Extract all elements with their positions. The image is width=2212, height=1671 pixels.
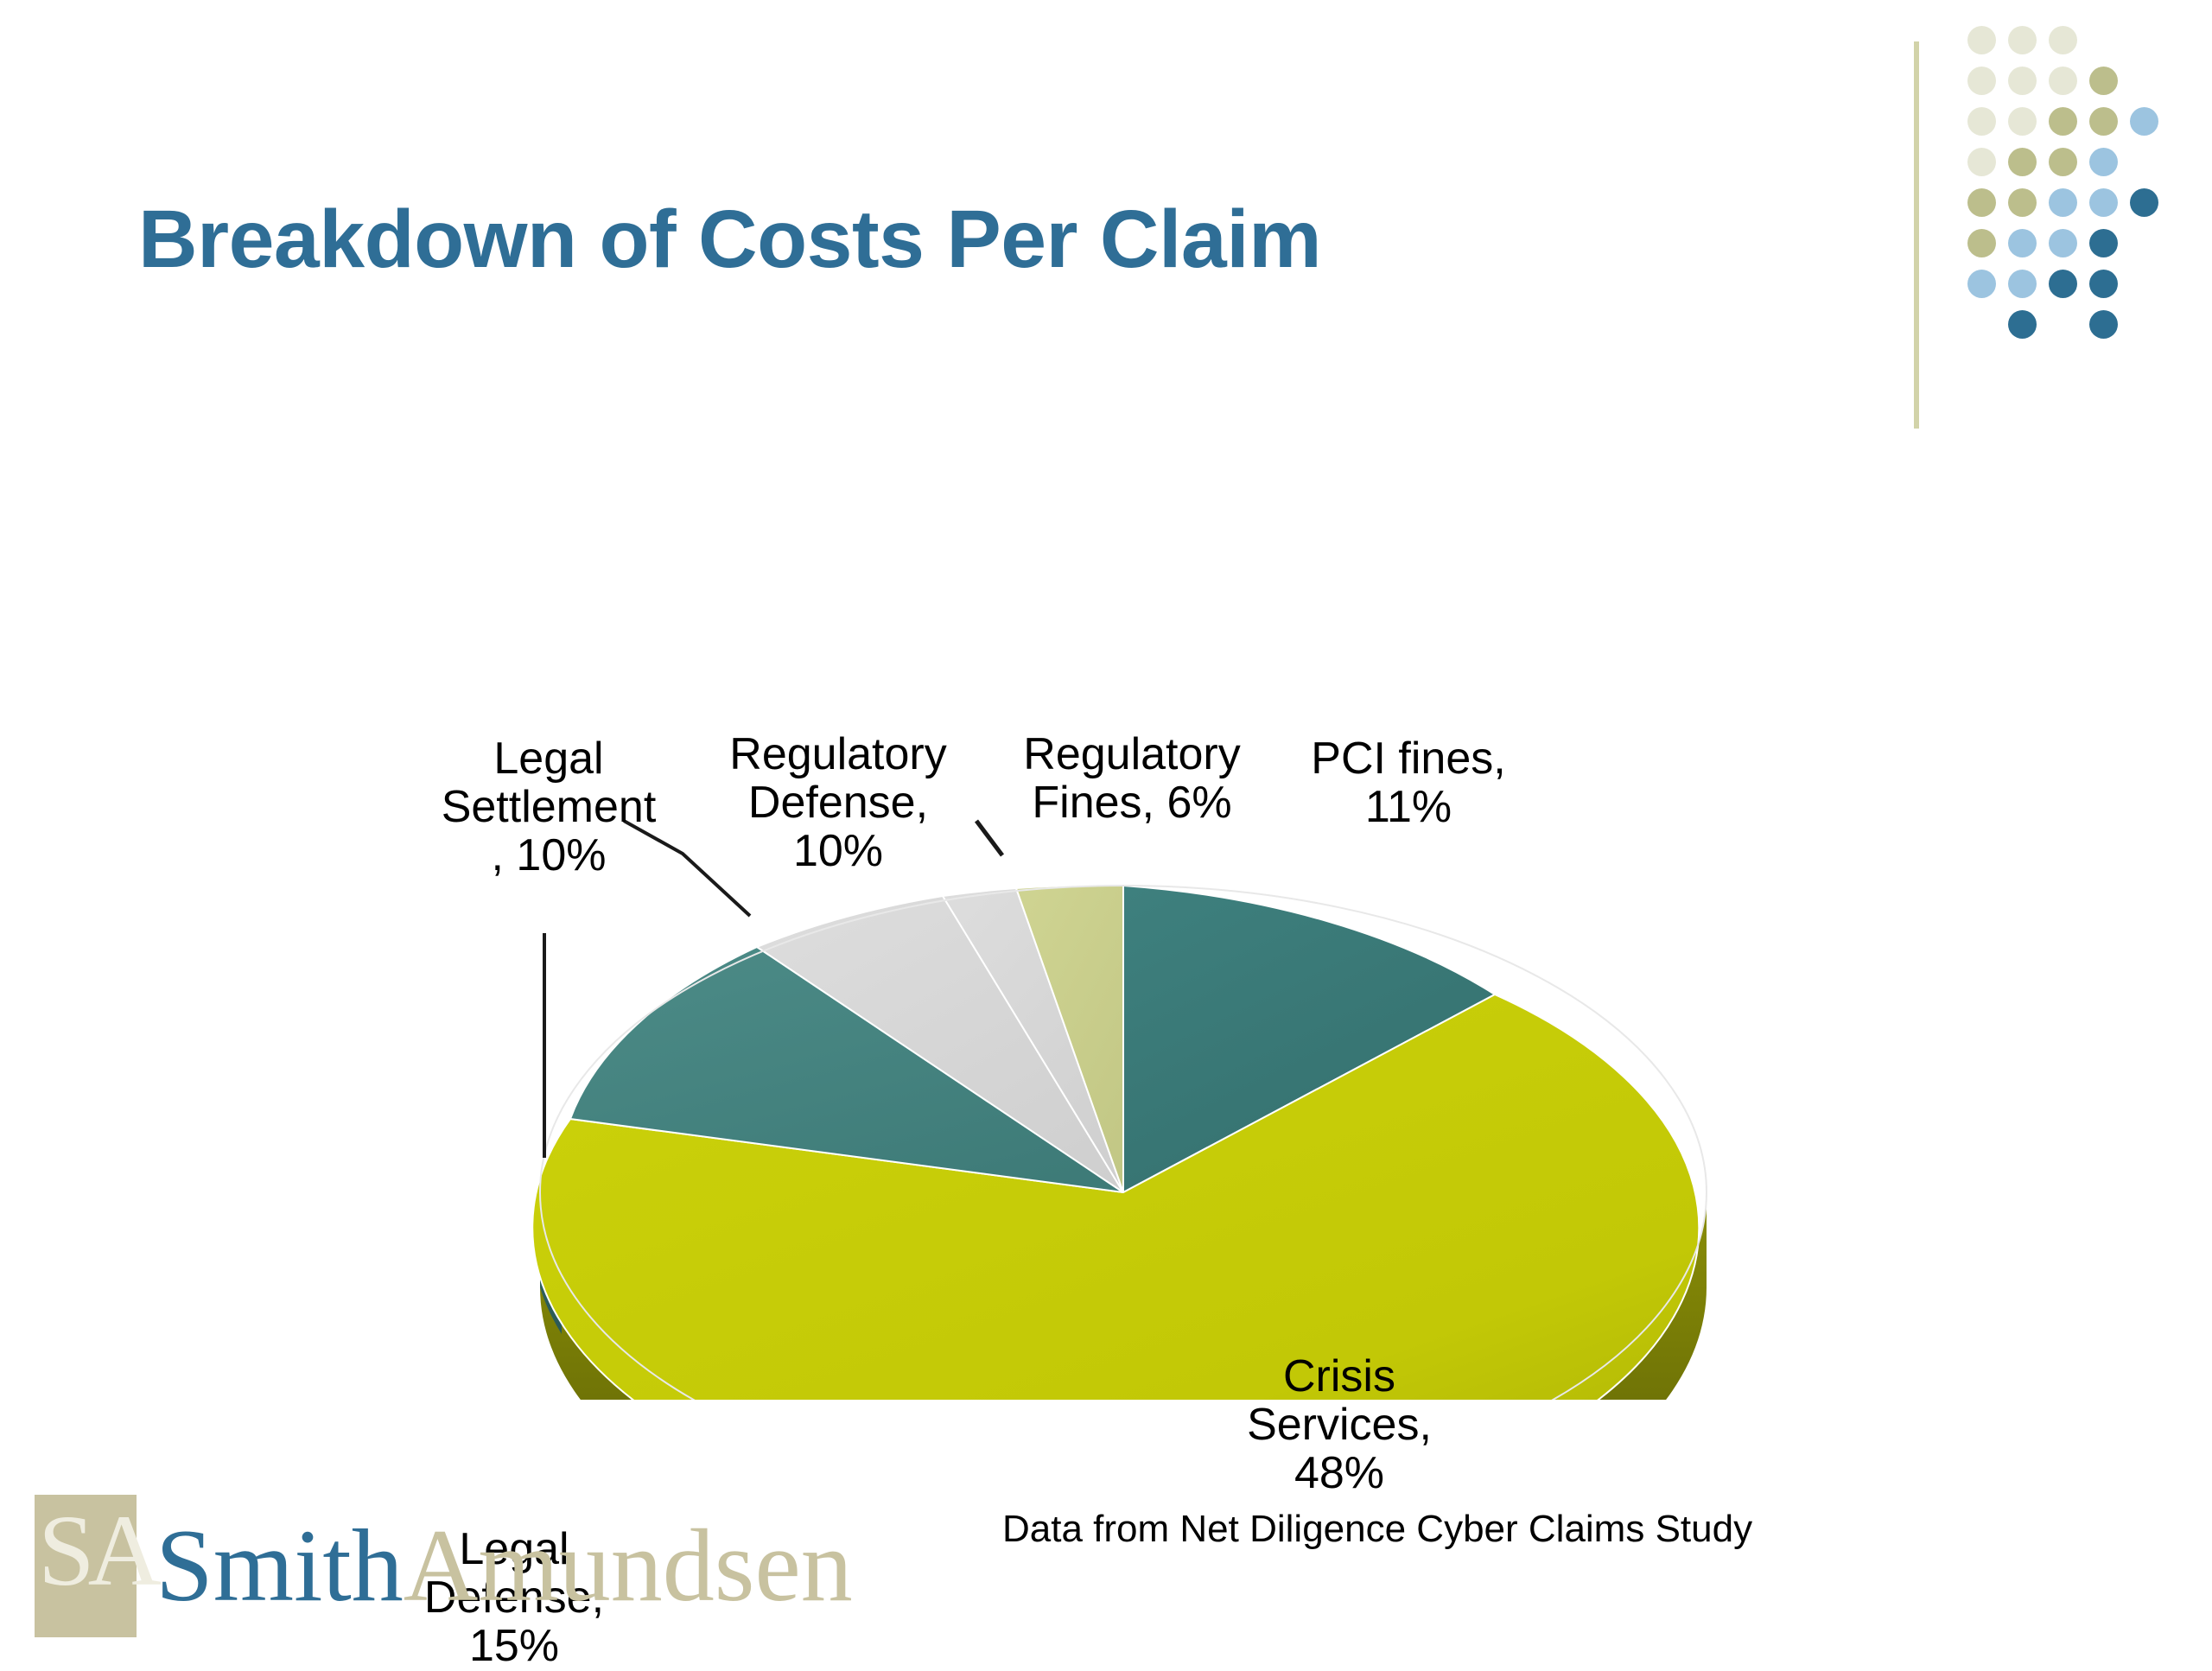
brand-dot [2049,188,2077,217]
brand-dot [2008,26,2037,54]
source-note: Data from Net Diligence Cyber Claims Stu… [1002,1508,1752,1551]
pie-label-crisis-services: Crisis Services, 48% [1192,1352,1486,1497]
brand-dot [2008,270,2037,298]
brand-dot [1967,107,1996,136]
brand-dot [2049,26,2077,54]
pie-label-pci-fines: PCI fines, 11% [1279,734,1538,831]
brand-dot [2089,148,2118,176]
brand-dot [1967,148,1996,176]
brand-dot [2089,229,2118,257]
page-title: Breakdown of Costs Per Claim [138,197,1321,283]
logo-monogram-box: SA [35,1495,137,1637]
brand-dot [2049,67,2077,95]
brand-dot [2130,188,2158,217]
pie-label-regulatory-defense: Regulatory Defense, 10% [691,730,985,875]
brand-dot [2008,67,2037,95]
dot-grid-graphic [1967,26,2183,372]
brand-mark [1914,26,2190,432]
brand-dot [2089,107,2118,136]
brand-dot [2089,310,2118,339]
company-logo: SA SmithAmundsen [35,1495,907,1646]
brand-dot [2089,188,2118,217]
logo-wordmark: SmithAmundsen [156,1514,853,1617]
logo-word-secondary: Amundsen [404,1508,853,1623]
brand-dot [2049,229,2077,257]
brand-dot [2049,107,2077,136]
brand-dot [2049,270,2077,298]
brand-dot [2130,107,2158,136]
pie-chart-svg [0,449,1815,1400]
brand-dot [1967,26,1996,54]
brand-dot [1967,229,1996,257]
pie-label-regulatory-fines: Regulatory Fines, 6% [989,730,1274,827]
logo-word-primary: Smith [156,1508,404,1623]
brand-dot [2089,270,2118,298]
brand-dot [2089,67,2118,95]
brand-dot [2008,310,2037,339]
pie-label-legal-settlement: Legal Settlement , 10% [406,734,691,880]
brand-vertical-rule [1914,41,1919,429]
brand-dot [1967,270,1996,298]
brand-dot [2008,188,2037,217]
brand-dot [2008,229,2037,257]
brand-dot [1967,188,1996,217]
brand-dot [2008,148,2037,176]
pie-chart: Legal Settlement , 10% Regulatory Defens… [0,449,1815,1400]
brand-dot [1967,67,1996,95]
brand-dot [2008,107,2037,136]
brand-dot [2049,148,2077,176]
logo-monogram-text: SA [38,1500,155,1602]
